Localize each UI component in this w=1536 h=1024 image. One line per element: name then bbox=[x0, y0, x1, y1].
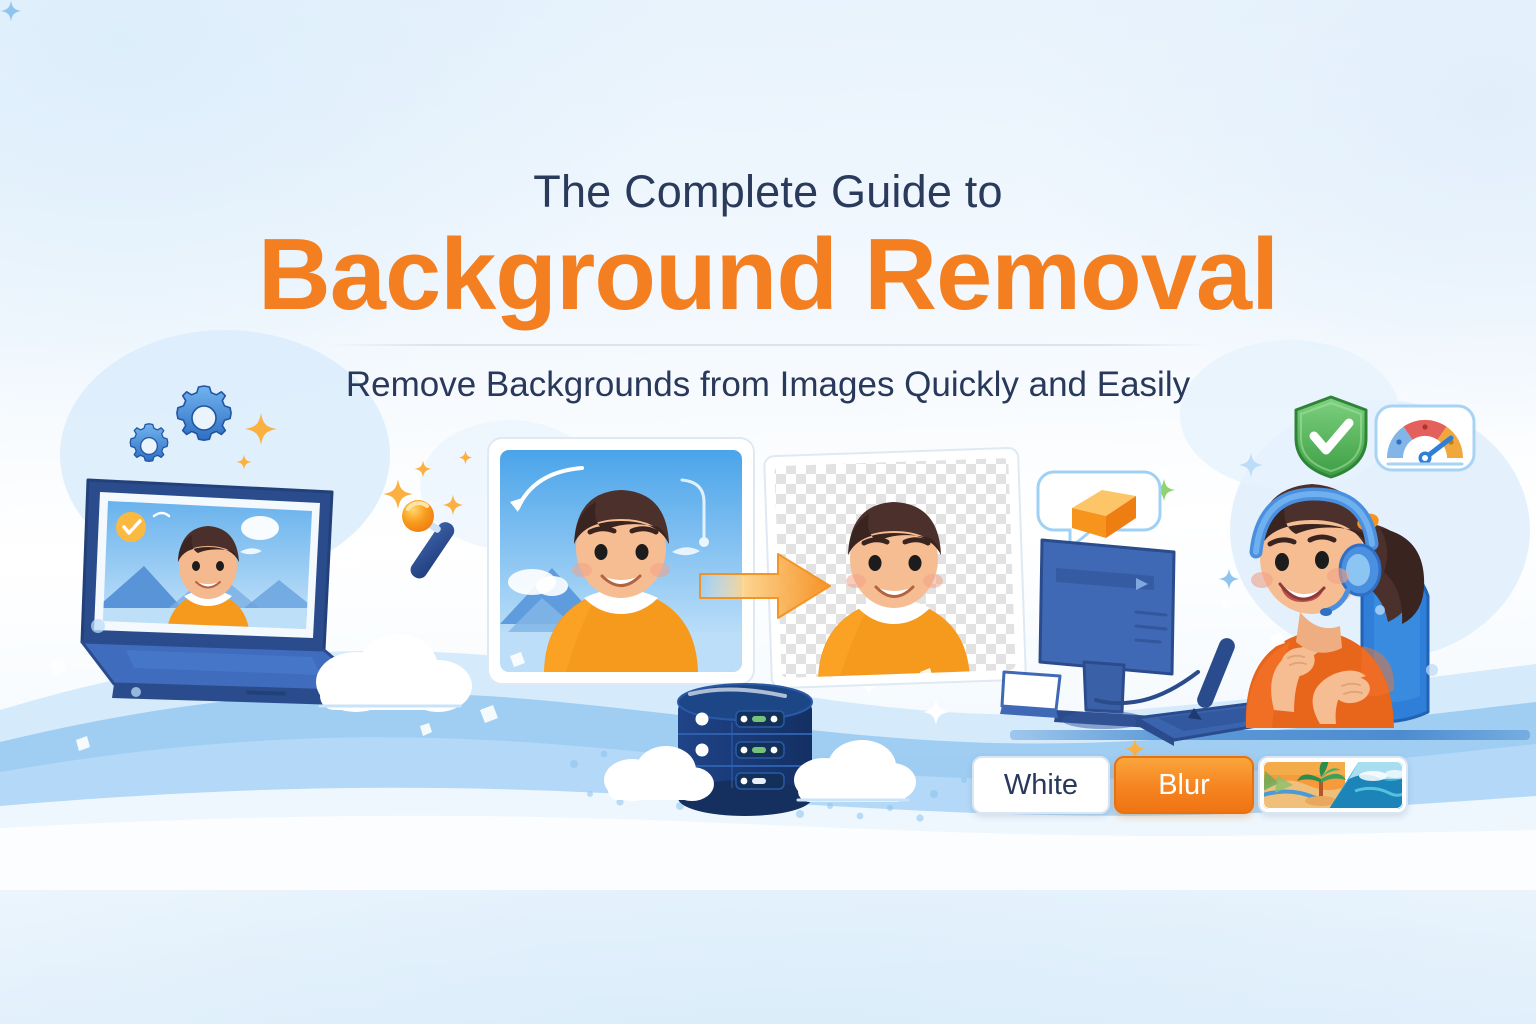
title-divider bbox=[326, 344, 1210, 346]
hero-header: The Complete Guide to Background Removal… bbox=[0, 0, 1536, 405]
sparkle-icon bbox=[244, 412, 278, 446]
hero-eyebrow: The Complete Guide to bbox=[0, 168, 1536, 215]
sparkle-icon bbox=[458, 450, 473, 465]
sparkle-icon bbox=[414, 460, 432, 478]
page-title: Background Removal bbox=[0, 221, 1536, 330]
floating-shapes bbox=[40, 540, 1500, 820]
hero-subtitle: Remove Backgrounds from Images Quickly a… bbox=[0, 366, 1536, 405]
speed-gauge-icon bbox=[1374, 402, 1476, 474]
shield-check-icon bbox=[1290, 394, 1372, 480]
hero-illustration: The Complete Guide to Background Removal… bbox=[0, 0, 1536, 1024]
gear-icon-small bbox=[124, 421, 174, 471]
sparkle-icon bbox=[236, 454, 252, 470]
